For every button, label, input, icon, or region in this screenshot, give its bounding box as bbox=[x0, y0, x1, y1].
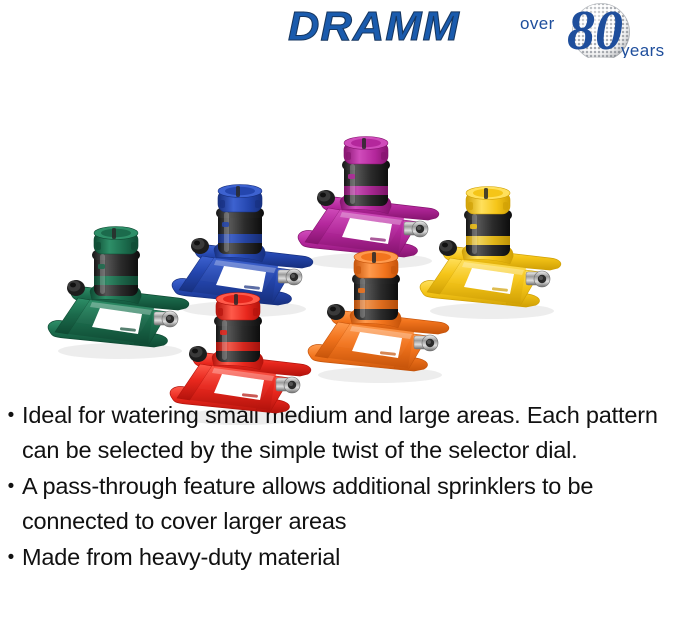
sprinkler-red-graphic bbox=[150, 286, 340, 436]
bullet-dot-icon: • bbox=[0, 398, 22, 433]
feature-bullet-text: A pass-through feature allows additional… bbox=[22, 469, 679, 539]
feature-bullet-text: Made from heavy-duty material bbox=[22, 540, 346, 575]
sprinkler-orange-turret bbox=[350, 251, 401, 329]
sprinkler-purple-turret bbox=[340, 137, 391, 215]
sprinkler-green-inlet-knob bbox=[67, 280, 85, 296]
sprinkler-red-passthrough-fitting bbox=[276, 377, 300, 393]
sprinkler-blue-turret bbox=[214, 185, 265, 263]
sprinkler-yellow-passthrough-fitting bbox=[526, 271, 550, 287]
sprinkler-red bbox=[150, 286, 340, 436]
sprinkler-orange-passthrough-fitting bbox=[414, 335, 438, 351]
bullet-dot-icon: • bbox=[0, 469, 22, 504]
sprinkler-red-turret bbox=[212, 293, 263, 371]
dramm-logo-wordmark: DRAMM bbox=[288, 6, 460, 47]
product-photo bbox=[0, 58, 679, 388]
sprinkler-red-inlet-knob bbox=[189, 346, 207, 362]
badge-number-80: 80 bbox=[567, 2, 623, 62]
bullet-dot-icon: • bbox=[0, 540, 22, 575]
badge-graphic: over 80 years bbox=[505, 2, 679, 64]
feature-bullet-text: Ideal for watering small medium and larg… bbox=[22, 398, 679, 468]
product-image-page: DRAMM over bbox=[0, 0, 679, 628]
over-80-years-badge: over 80 years bbox=[505, 2, 679, 64]
badge-over-text: over bbox=[520, 14, 555, 33]
sprinkler-purple-passthrough-fitting bbox=[404, 221, 428, 237]
feature-bullet-item: •A pass-through feature allows additiona… bbox=[0, 469, 679, 539]
feature-bullet-item: •Made from heavy-duty material bbox=[0, 540, 679, 575]
sprinkler-green-turret bbox=[90, 227, 141, 305]
